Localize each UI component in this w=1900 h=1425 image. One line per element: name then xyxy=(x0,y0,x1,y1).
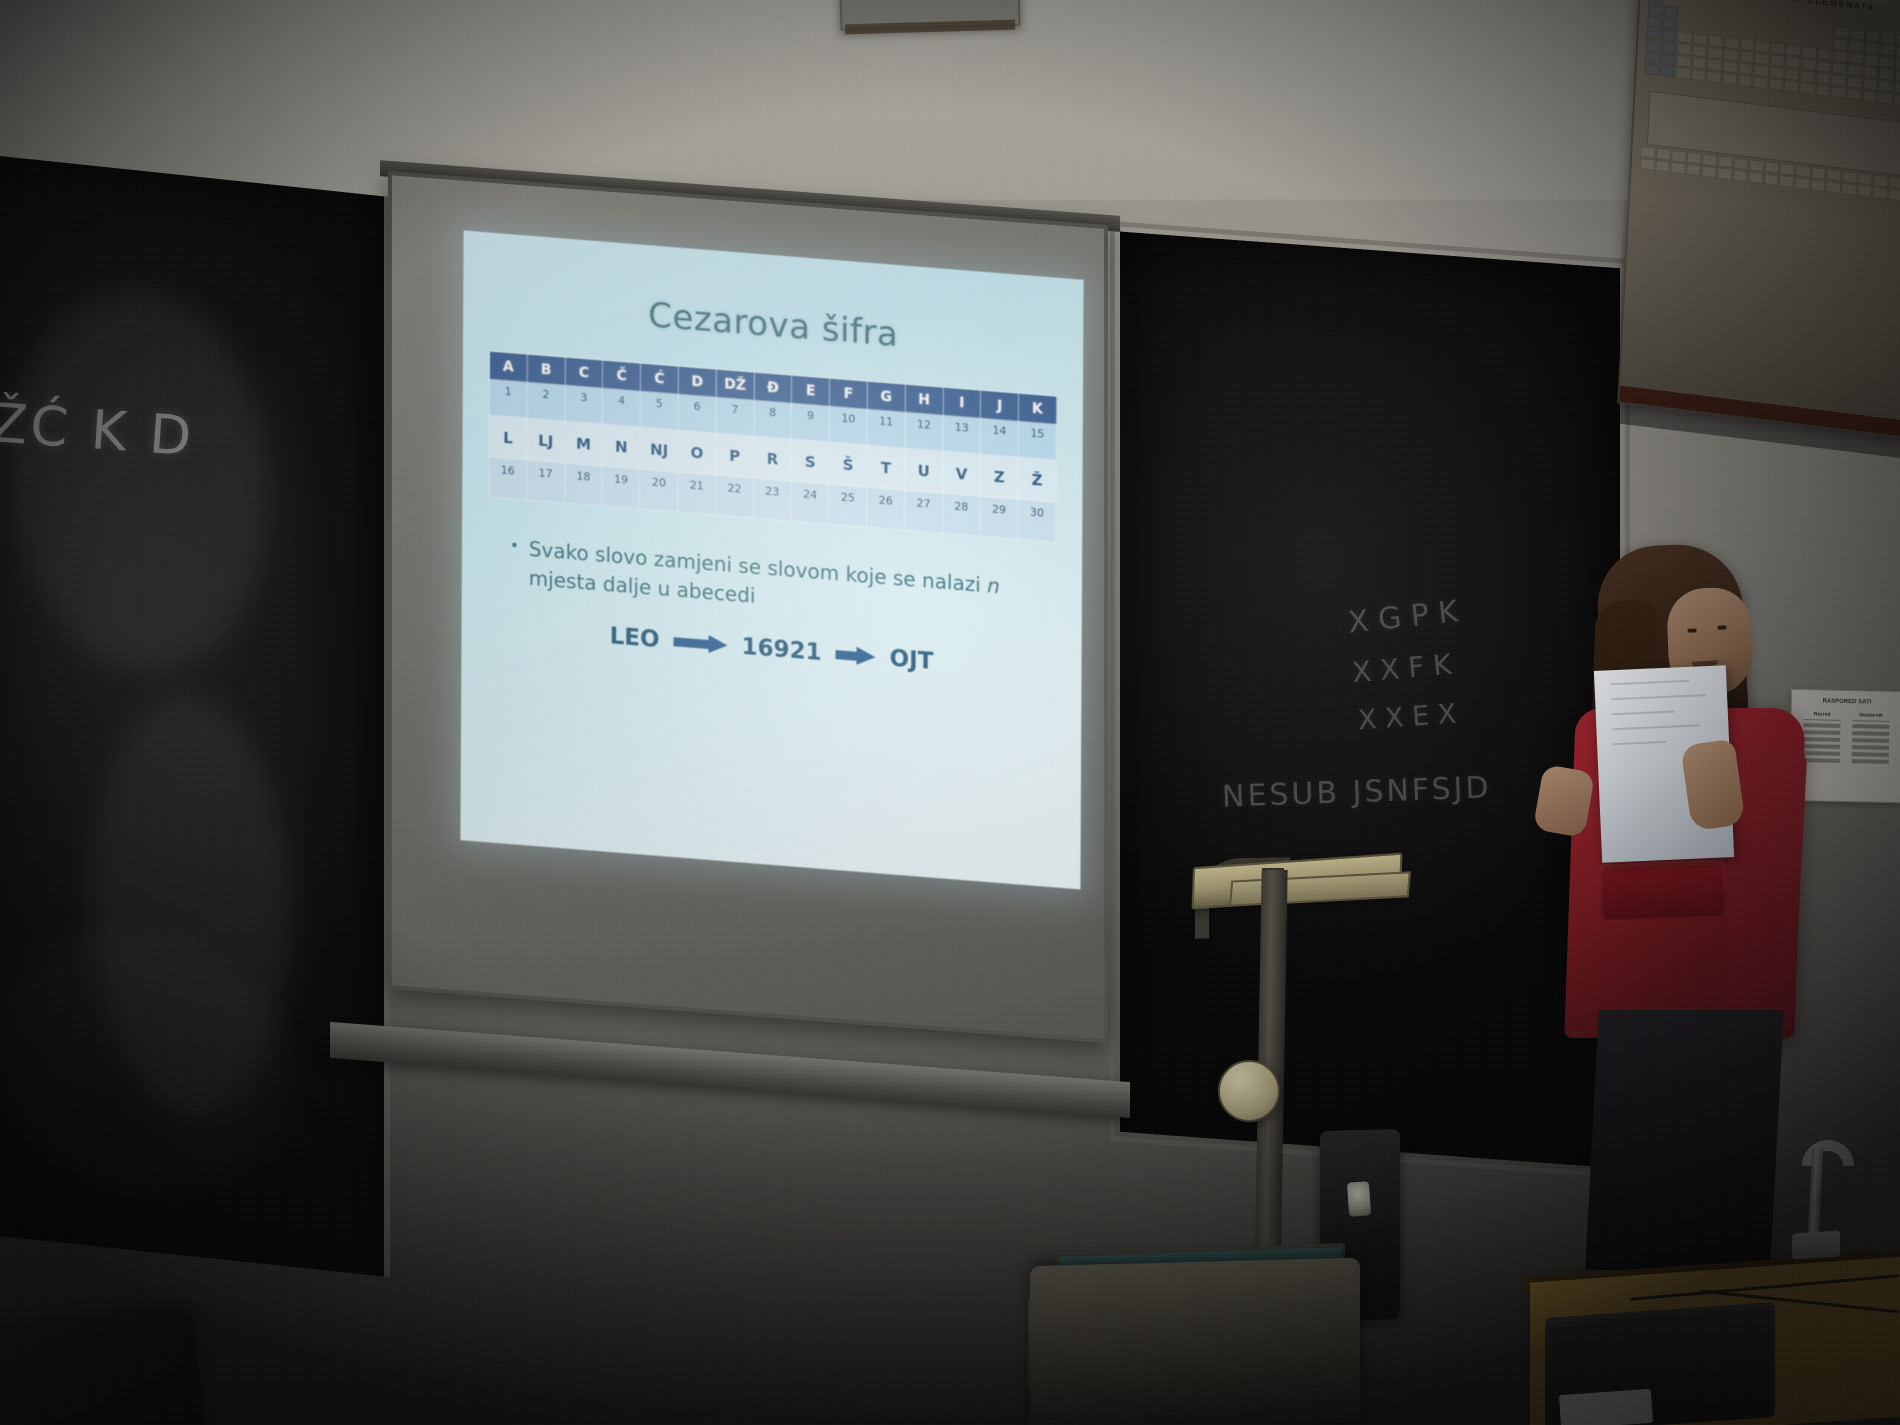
periodic-grid-gap xyxy=(1741,3,1756,16)
periodic-element-cell xyxy=(1770,54,1785,67)
cipher-cell: 5 xyxy=(640,391,678,430)
periodic-element-cell xyxy=(1879,56,1894,69)
periodic-element-cell xyxy=(1646,27,1661,40)
periodic-grid-gap xyxy=(1694,21,1709,34)
periodic-element-cell xyxy=(1740,39,1755,52)
periodic-element-cell xyxy=(1755,40,1770,53)
periodic-element-cell xyxy=(1795,177,1810,190)
periodic-element-cell xyxy=(1717,167,1732,180)
overhead-projector-base xyxy=(1030,1258,1360,1425)
periodic-element-cell xyxy=(1779,175,1794,188)
periodic-element-cell xyxy=(1832,62,1847,75)
lamp-indicator-icon xyxy=(1347,1181,1371,1216)
periodic-element-cell xyxy=(1895,58,1900,71)
periodic-element-cell xyxy=(1648,3,1663,16)
periodic-grid-gap xyxy=(1881,20,1896,33)
periodic-element-cell xyxy=(1676,67,1691,80)
cipher-cell: K xyxy=(1018,393,1056,424)
periodic-element-cell xyxy=(1896,46,1900,59)
periodic-element-cell xyxy=(1864,54,1879,67)
periodic-element-cell xyxy=(1894,82,1900,95)
cipher-cell: 12 xyxy=(905,412,943,451)
periodic-element-cell xyxy=(1656,148,1671,161)
periodic-element-cell xyxy=(1878,80,1893,93)
cipher-cell: 6 xyxy=(678,394,716,433)
periodic-element-cell xyxy=(1645,51,1660,64)
right-arrow-icon-2 xyxy=(836,646,876,665)
cipher-cell: 8 xyxy=(754,400,792,439)
periodic-element-cell xyxy=(1748,171,1763,184)
periodic-element-cell xyxy=(1692,45,1707,58)
cipher-cell: H xyxy=(905,384,943,415)
slide-title: Cezarova šifra xyxy=(489,283,1057,368)
periodic-element-cell xyxy=(1786,56,1801,69)
cipher-cell: 22 xyxy=(715,475,753,518)
periodic-element-cell xyxy=(1863,78,1878,91)
periodic-element-cell xyxy=(1801,58,1816,71)
periodic-element-cell xyxy=(1686,164,1701,177)
cipher-cell: NJ xyxy=(640,427,678,472)
periodic-element-cell xyxy=(1733,169,1748,182)
chalk-text-left: ŽĆ K DŽ xyxy=(0,391,192,475)
periodic-element-cell xyxy=(1841,183,1856,196)
periodic-element-cell xyxy=(1677,31,1692,44)
periodic-grid-gap xyxy=(1818,36,1833,49)
periodic-element-cell xyxy=(1784,80,1799,93)
cipher-cell: 13 xyxy=(943,415,981,454)
cipher-cell: 30 xyxy=(1018,499,1056,542)
notice-columns: Razred Nastavnik xyxy=(1797,711,1896,764)
periodic-element-cell xyxy=(1785,68,1800,81)
periodic-element-cell xyxy=(1879,68,1894,81)
periodic-element-cell xyxy=(1858,173,1873,186)
periodic-element-cell xyxy=(1877,92,1892,105)
periodic-element-cell xyxy=(1723,61,1738,74)
periodic-grid-gap xyxy=(1802,34,1817,47)
periodic-element-cell xyxy=(1764,161,1779,174)
periodic-element-cell xyxy=(1771,42,1786,55)
periodic-element-cell xyxy=(1707,59,1722,72)
periodic-element-cell xyxy=(1832,74,1847,87)
periodic-element-cell xyxy=(1888,188,1900,201)
periodic-grid-gap xyxy=(1773,6,1788,19)
periodic-element-cell xyxy=(1663,5,1678,18)
periodic-grid-gap xyxy=(1710,11,1725,24)
periodic-element-cell xyxy=(1738,63,1753,76)
cipher-cell: 26 xyxy=(867,487,905,530)
faucet-base[interactable] xyxy=(1792,1230,1840,1259)
periodic-grid-gap xyxy=(1787,20,1802,33)
cipher-cell: Č xyxy=(603,360,641,391)
periodic-grid-gap xyxy=(1803,22,1818,35)
periodic-element-cell xyxy=(1802,46,1817,59)
periodic-element-cell xyxy=(1847,76,1862,89)
paper-scrap xyxy=(1559,1389,1653,1425)
cipher-cell: 16 xyxy=(489,457,527,500)
periodic-element-cell xyxy=(1848,64,1863,77)
classroom-photo: ŽĆ K DŽ X G P K X X F K X X E X NESUB JS… xyxy=(0,0,1900,1425)
periodic-element-cell xyxy=(1733,157,1748,170)
cipher-cell: Ć xyxy=(641,363,679,394)
example-plaintext: LEO xyxy=(610,623,660,653)
periodic-grid-gap xyxy=(1788,8,1803,21)
periodic-element-cell xyxy=(1786,44,1801,57)
periodic-element-cell xyxy=(1687,152,1702,165)
cipher-cell: U xyxy=(905,448,943,493)
periodic-element-cell xyxy=(1753,76,1768,89)
periodic-grid-gap xyxy=(1771,30,1786,43)
presenter-legs xyxy=(1585,1010,1784,1270)
periodic-element-cell xyxy=(1754,64,1769,77)
periodic-element-cell xyxy=(1780,163,1795,176)
periodic-grid-gap xyxy=(1819,24,1834,37)
periodic-element-cell xyxy=(1663,17,1678,30)
cipher-cell: DŽ xyxy=(716,369,754,400)
periodic-grid-gap xyxy=(1772,18,1787,31)
periodic-grid-gap xyxy=(1835,14,1850,27)
periodic-element-cell xyxy=(1655,160,1670,173)
cipher-cell: 27 xyxy=(904,490,942,533)
cipher-cell: LJ xyxy=(527,418,565,463)
cipher-cell: O xyxy=(678,430,716,475)
cipher-cell: I xyxy=(943,387,981,418)
periodic-grid-gap xyxy=(1694,9,1709,22)
cipher-cell: Š xyxy=(829,442,867,487)
periodic-element-cell xyxy=(1709,35,1724,48)
cipher-cell: L xyxy=(489,415,527,460)
periodic-grid-gap xyxy=(1819,12,1834,25)
periodic-element-cell xyxy=(1881,32,1896,45)
periodic-element-cell xyxy=(1842,171,1857,184)
periodic-element-cell xyxy=(1754,52,1769,65)
cipher-cell: 4 xyxy=(603,388,641,427)
periodic-grid-gap xyxy=(1757,5,1772,18)
periodic-element-cell xyxy=(1873,175,1888,188)
notice-title: RASPORED SATI xyxy=(1798,698,1896,706)
periodic-grid-gap xyxy=(1866,18,1881,31)
periodic-element-cell xyxy=(1722,73,1737,86)
periodic-grid-gap xyxy=(1679,7,1694,20)
cipher-cell: Z xyxy=(980,454,1018,499)
periodic-element-cell xyxy=(1645,63,1660,76)
cipher-cell: 15 xyxy=(1018,421,1056,460)
cipher-cell: F xyxy=(830,378,868,409)
cipher-cell: C xyxy=(565,357,603,388)
periodic-element-cell xyxy=(1889,176,1900,189)
cipher-cell: D xyxy=(678,366,716,397)
periodic-grid-gap xyxy=(1756,16,1771,29)
periodic-grid-gap xyxy=(1725,13,1740,26)
periodic-grid-gap xyxy=(1741,15,1756,28)
periodic-element-cell xyxy=(1702,154,1717,167)
periodic-element-cell xyxy=(1863,66,1878,79)
periodic-element-cell xyxy=(1849,40,1864,53)
cipher-cell: 21 xyxy=(678,472,716,515)
periodic-element-cell xyxy=(1723,49,1738,62)
cipher-cell: S xyxy=(791,439,829,484)
periodic-element-cell xyxy=(1795,165,1810,178)
periodic-element-cell xyxy=(1662,29,1677,42)
periodic-element-cell xyxy=(1769,66,1784,79)
periodic-element-cell xyxy=(1660,65,1675,78)
periodic-element-cell xyxy=(1893,94,1900,107)
foreground-object xyxy=(0,1309,207,1425)
slide-bullet: • Svako slovo zamjeni se slovom koje se … xyxy=(488,531,1056,634)
periodic-element-cell xyxy=(1708,47,1723,60)
cipher-cell: T xyxy=(867,445,905,490)
periodic-grid-gap xyxy=(1787,32,1802,45)
presenter-belt xyxy=(1599,860,1727,920)
bullet-emphasis: n xyxy=(987,573,1000,598)
projected-slide: Cezarova šifra ABCČĆDDŽĐEFGHIJK123456789… xyxy=(460,230,1083,889)
blackboard-left xyxy=(0,153,390,1277)
periodic-element-cell xyxy=(1640,146,1655,159)
periodic-table-poster: PERIODNI SUSTAV ELEMENATA xyxy=(1617,0,1900,440)
cipher-cell: 14 xyxy=(980,418,1018,457)
notice-col-left-header: Razred xyxy=(1803,711,1840,721)
periodic-element-cell xyxy=(1817,60,1832,73)
periodic-element-cell xyxy=(1833,50,1848,63)
cipher-cell: E xyxy=(792,375,830,406)
cipher-cell: 18 xyxy=(564,463,602,506)
focus-knob[interactable] xyxy=(1218,1060,1280,1122)
cipher-cell: 10 xyxy=(829,406,867,445)
cipher-cell: 2 xyxy=(527,382,565,421)
cipher-cell: P xyxy=(716,433,754,478)
periodic-grid-gap xyxy=(1726,1,1741,14)
periodic-element-cell xyxy=(1857,185,1872,198)
cipher-cell: 20 xyxy=(640,469,678,512)
periodic-element-cell xyxy=(1800,70,1815,83)
periodic-grid-gap xyxy=(1725,25,1740,38)
periodic-element-cell xyxy=(1880,44,1895,57)
periodic-element-cell xyxy=(1865,30,1880,43)
periodic-element-cell xyxy=(1661,53,1676,66)
periodic-element-cell xyxy=(1810,179,1825,192)
periodic-element-cell xyxy=(1815,84,1830,97)
periodic-element-cell xyxy=(1764,173,1779,186)
periodic-element-cell xyxy=(1646,39,1661,52)
periodic-element-cell xyxy=(1693,33,1708,46)
periodic-element-cell xyxy=(1671,162,1686,175)
cipher-cell: 3 xyxy=(565,385,603,424)
periodic-element-cell xyxy=(1817,48,1832,61)
cipher-cell: 1 xyxy=(489,379,527,418)
cipher-cell: 28 xyxy=(942,493,980,536)
periodic-grid-gap xyxy=(1740,27,1755,40)
periodic-element-cell xyxy=(1702,166,1717,179)
cipher-cell: R xyxy=(753,436,791,481)
periodic-element-cell xyxy=(1862,90,1877,103)
periodic-grid-gap xyxy=(1850,16,1865,29)
periodic-element-cell xyxy=(1831,86,1846,99)
periodic-element-cell xyxy=(1811,167,1826,180)
cipher-cell: V xyxy=(942,451,980,496)
periodic-element-cell xyxy=(1738,75,1753,88)
cipher-cell: 19 xyxy=(602,466,640,509)
periodic-element-cell xyxy=(1640,158,1655,171)
cipher-cell: 29 xyxy=(980,496,1018,539)
example-ciphertext: OJT xyxy=(890,645,934,674)
cipher-cell: J xyxy=(981,390,1019,421)
cipher-cell: Ž xyxy=(1018,457,1056,502)
notice-col-right-header: Nastavnik xyxy=(1852,712,1889,722)
periodic-grid-gap xyxy=(1756,28,1771,41)
periodic-element-cell xyxy=(1749,159,1764,172)
cipher-cell: 11 xyxy=(867,409,905,448)
periodic-element-cell xyxy=(1677,43,1692,56)
periodic-element-cell xyxy=(1827,169,1842,182)
periodic-element-cell xyxy=(1873,187,1888,200)
cipher-cell: 25 xyxy=(829,484,867,527)
wall-notice: RASPORED SATI Razred Nastavnik xyxy=(1789,689,1900,803)
example-numbers: 16921 xyxy=(741,634,821,666)
cipher-cell: M xyxy=(565,421,603,466)
periodic-element-cell xyxy=(1707,71,1722,84)
periodic-element-cell xyxy=(1848,52,1863,65)
periodic-element-cell xyxy=(1833,38,1848,51)
periodic-element-cell xyxy=(1739,51,1754,64)
periodic-element-cell xyxy=(1769,78,1784,91)
periodic-element-cell xyxy=(1691,69,1706,82)
cipher-cell: 9 xyxy=(792,403,830,442)
cipher-cell: N xyxy=(602,424,640,469)
bullet-marker: • xyxy=(510,533,519,592)
periodic-grid-gap xyxy=(1710,0,1725,12)
cipher-table-body: ABCČĆDDŽĐEFGHIJK123456789101112131415LLJ… xyxy=(489,351,1057,542)
periodic-element-cell xyxy=(1834,26,1849,39)
periodic-element-cell xyxy=(1647,15,1662,28)
periodic-element-cell xyxy=(1864,42,1879,55)
cipher-cell: 24 xyxy=(791,481,829,524)
periodic-element-cell xyxy=(1800,82,1815,95)
cipher-cell: 17 xyxy=(527,460,565,503)
cipher-cell: Đ xyxy=(754,372,792,403)
periodic-element-cell xyxy=(1724,37,1739,50)
periodic-element-cell xyxy=(1846,88,1861,101)
caesar-cipher-table: ABCČĆDDŽĐEFGHIJK123456789101112131415LLJ… xyxy=(488,350,1057,542)
periodic-element-cell xyxy=(1816,72,1831,85)
periodic-grid-gap xyxy=(1709,23,1724,36)
periodic-grid-gap xyxy=(1678,19,1693,32)
periodic-element-cell xyxy=(1826,181,1841,194)
cipher-cell: G xyxy=(867,381,905,412)
cipher-cell: 23 xyxy=(753,478,791,521)
periodic-element-cell xyxy=(1671,150,1686,163)
cipher-cell: B xyxy=(527,354,565,385)
periodic-element-cell xyxy=(1894,70,1900,83)
periodic-element-cell xyxy=(1661,41,1676,54)
cipher-cell: A xyxy=(489,351,527,382)
periodic-element-cell xyxy=(1850,28,1865,41)
periodic-element-cell xyxy=(1718,155,1733,168)
periodic-element-cell xyxy=(1676,55,1691,68)
periodic-element-cell xyxy=(1692,57,1707,70)
blackboard-right-frame xyxy=(1110,221,1630,1179)
periodic-element-cell xyxy=(1896,34,1900,47)
periodic-grid-gap xyxy=(1804,10,1819,23)
cipher-cell: 7 xyxy=(716,397,754,436)
right-arrow-icon xyxy=(674,633,728,653)
bullet-text: Svako slovo zamjeni se slovom koje se na… xyxy=(529,535,1056,635)
